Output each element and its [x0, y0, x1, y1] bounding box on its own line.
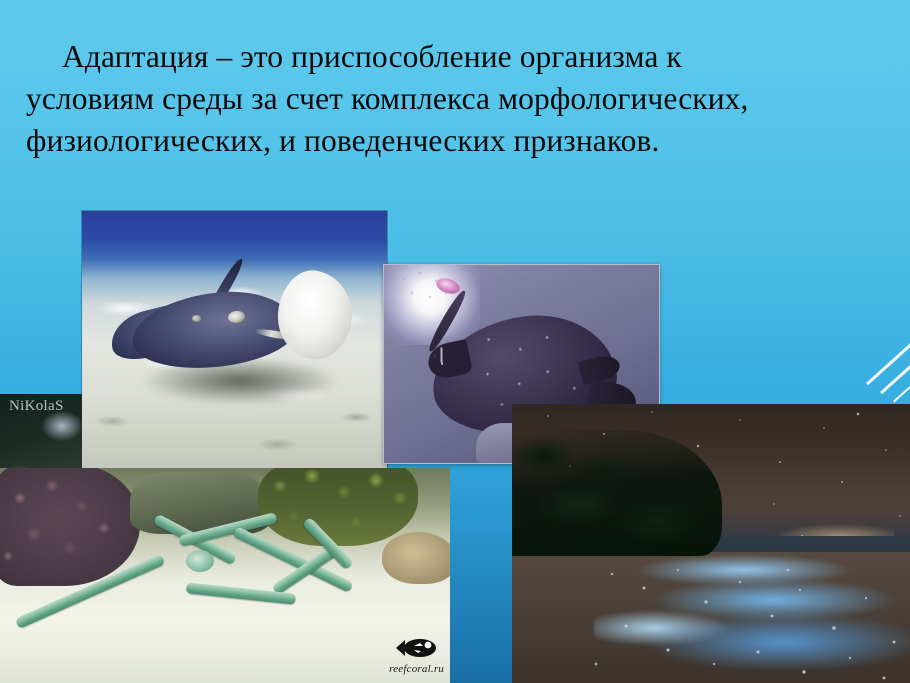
diagonal-stripe-icon: [866, 342, 910, 386]
watermark-nikolas: NiKolaS: [9, 398, 64, 415]
diagonal-stripe-icon: [880, 356, 910, 394]
title-line-1: Адаптация – это приспособление организма…: [26, 36, 884, 78]
stingray-spiracle: [192, 315, 201, 322]
bioluminescent-plankton-sparkles: [582, 554, 910, 683]
brittle-star-central-disc: [186, 550, 214, 572]
diagonal-stripe-icon: [893, 374, 910, 402]
presentation-slide: Адаптация – это приспособление организма…: [0, 0, 910, 683]
green-coral-colony: [258, 468, 418, 546]
title-line-2: условиям среды за счет комплекса морфоло…: [26, 78, 884, 120]
fish-logo-icon: [392, 637, 440, 659]
title-line-3: физиологических, и поведенческих признак…: [26, 120, 884, 162]
slide-title-text: Адаптация – это приспособление организма…: [26, 36, 884, 162]
watermark-reefcoral: reefcoral.ru: [389, 663, 444, 675]
image-brittle-star: reefcoral.ru: [0, 468, 450, 683]
image-stingray: [82, 211, 387, 468]
tan-coral-colony: [382, 532, 450, 584]
image-bioluminescent-beach: [512, 404, 910, 683]
